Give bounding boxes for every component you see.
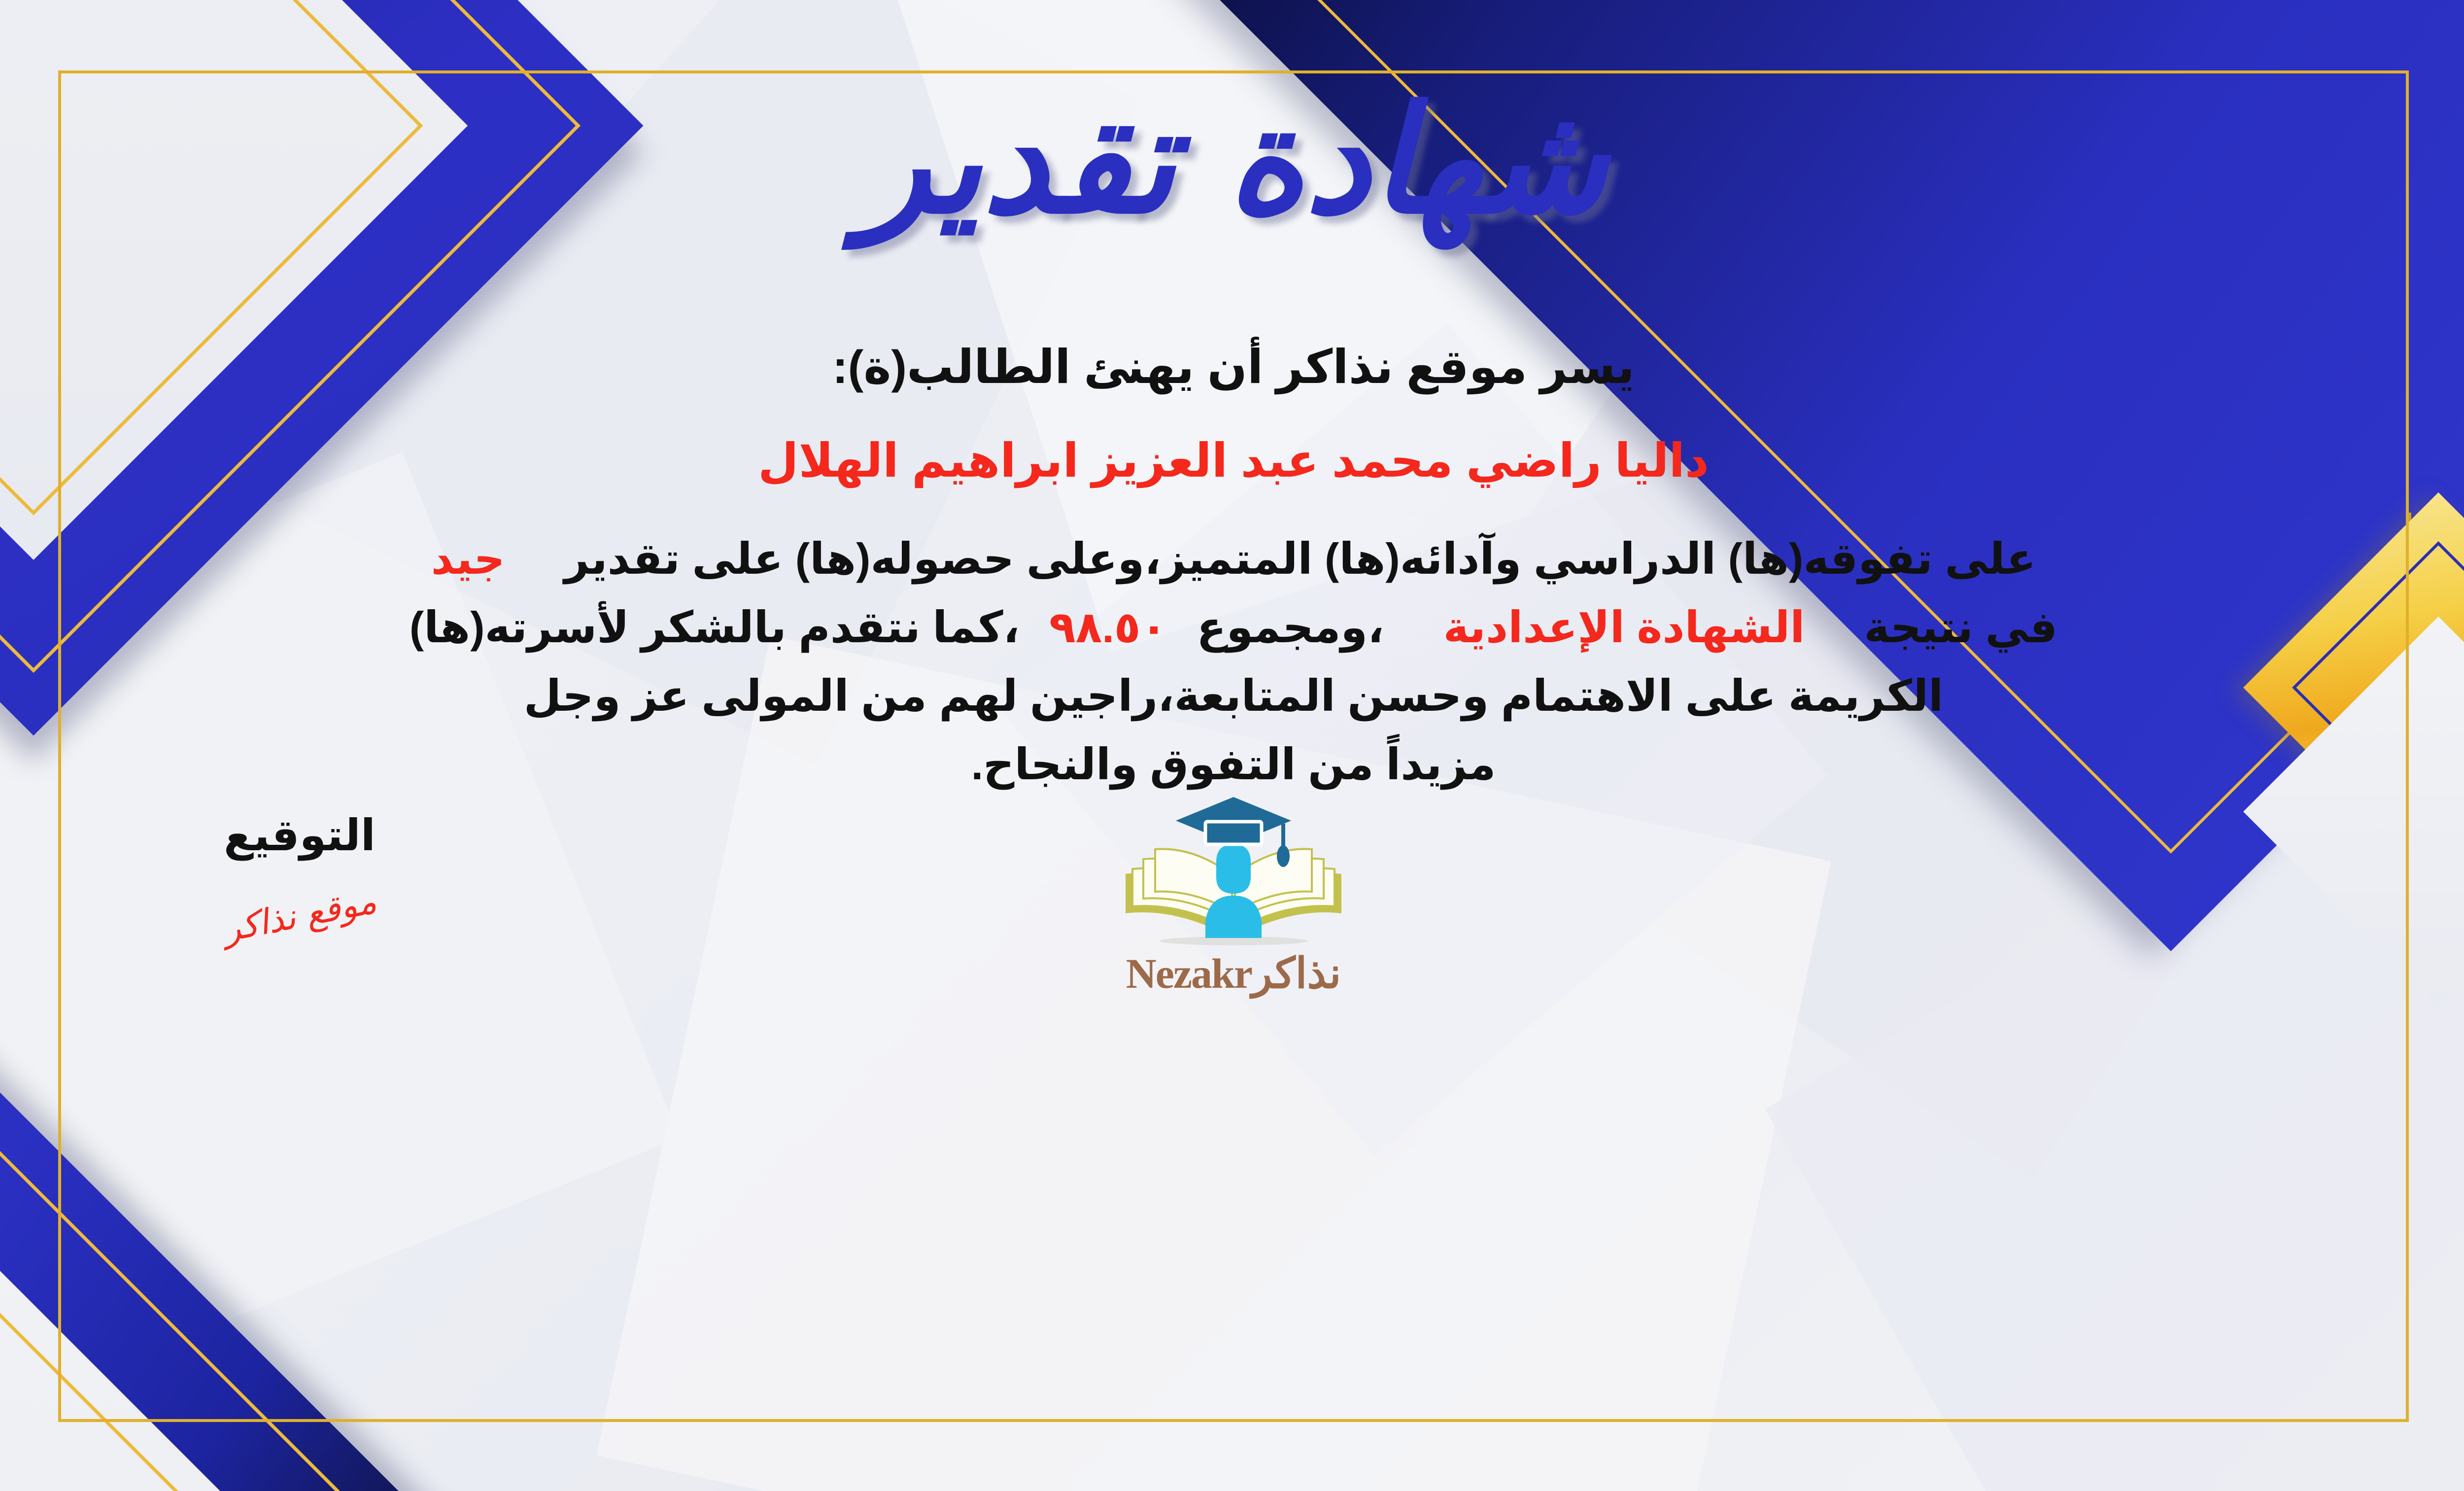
grade-value: جيد bbox=[431, 534, 505, 583]
exam-prefix: في نتيجة bbox=[1864, 603, 2057, 652]
achievement-line-4: مزيداً من التفوق والنجاح. bbox=[112, 730, 2355, 798]
thanks-text: ،كما نتقدم بالشكر لأسرته(ها) bbox=[410, 603, 1020, 652]
achievement-line-2: في نتيجةالشهادة الإعدادية،ومجموع٩٨.٥٠،كم… bbox=[112, 593, 2355, 661]
student-name: داليا راضي محمد عبد العزيز ابراهيم الهلا… bbox=[112, 425, 2355, 496]
greeting-line: يسر موقع نذاكر أن يهنئ الطالب(ة): bbox=[112, 332, 2355, 403]
achievement-text-a: على تفوقه(ها) الدراسي وآدائه(ها) المتميز… bbox=[564, 534, 2036, 583]
exam-name: الشهادة الإعدادية bbox=[1443, 603, 1805, 652]
achievement-paragraph: على تفوقه(ها) الدراسي وآدائه(ها) المتميز… bbox=[112, 524, 2355, 798]
graduate-book-logo-icon bbox=[1118, 790, 1349, 953]
certificate-page: شهادة تقدير يسر موقع نذاكر أن يهنئ الطال… bbox=[0, 0, 2464, 1491]
achievement-line-3: الكريمة على الاهتمام وحسن المتابعة،راجين… bbox=[112, 661, 2355, 730]
certificate-title: شهادة تقدير bbox=[58, 75, 2409, 245]
certificate-content: شهادة تقدير يسر موقع نذاكر أن يهنئ الطال… bbox=[58, 70, 2409, 1422]
achievement-line-1: على تفوقه(ها) الدراسي وآدائه(ها) المتميز… bbox=[112, 524, 2355, 593]
certificate-footer: التوقيع موقع نذاكر bbox=[58, 790, 2409, 1096]
logo-wordmark: نذاكرNezakr bbox=[1126, 949, 1341, 998]
logo-wordmark-en: Nezakr bbox=[1126, 950, 1252, 997]
logo-wordmark-ar: نذاكر bbox=[1252, 950, 1341, 997]
certificate-body: يسر موقع نذاكر أن يهنئ الطالب(ة): داليا … bbox=[58, 332, 2409, 798]
total-score: ٩٨.٥٠ bbox=[1049, 603, 1167, 652]
total-prefix: ،ومجموع bbox=[1197, 603, 1384, 652]
site-logo: نذاكرNezakr bbox=[58, 790, 2409, 998]
